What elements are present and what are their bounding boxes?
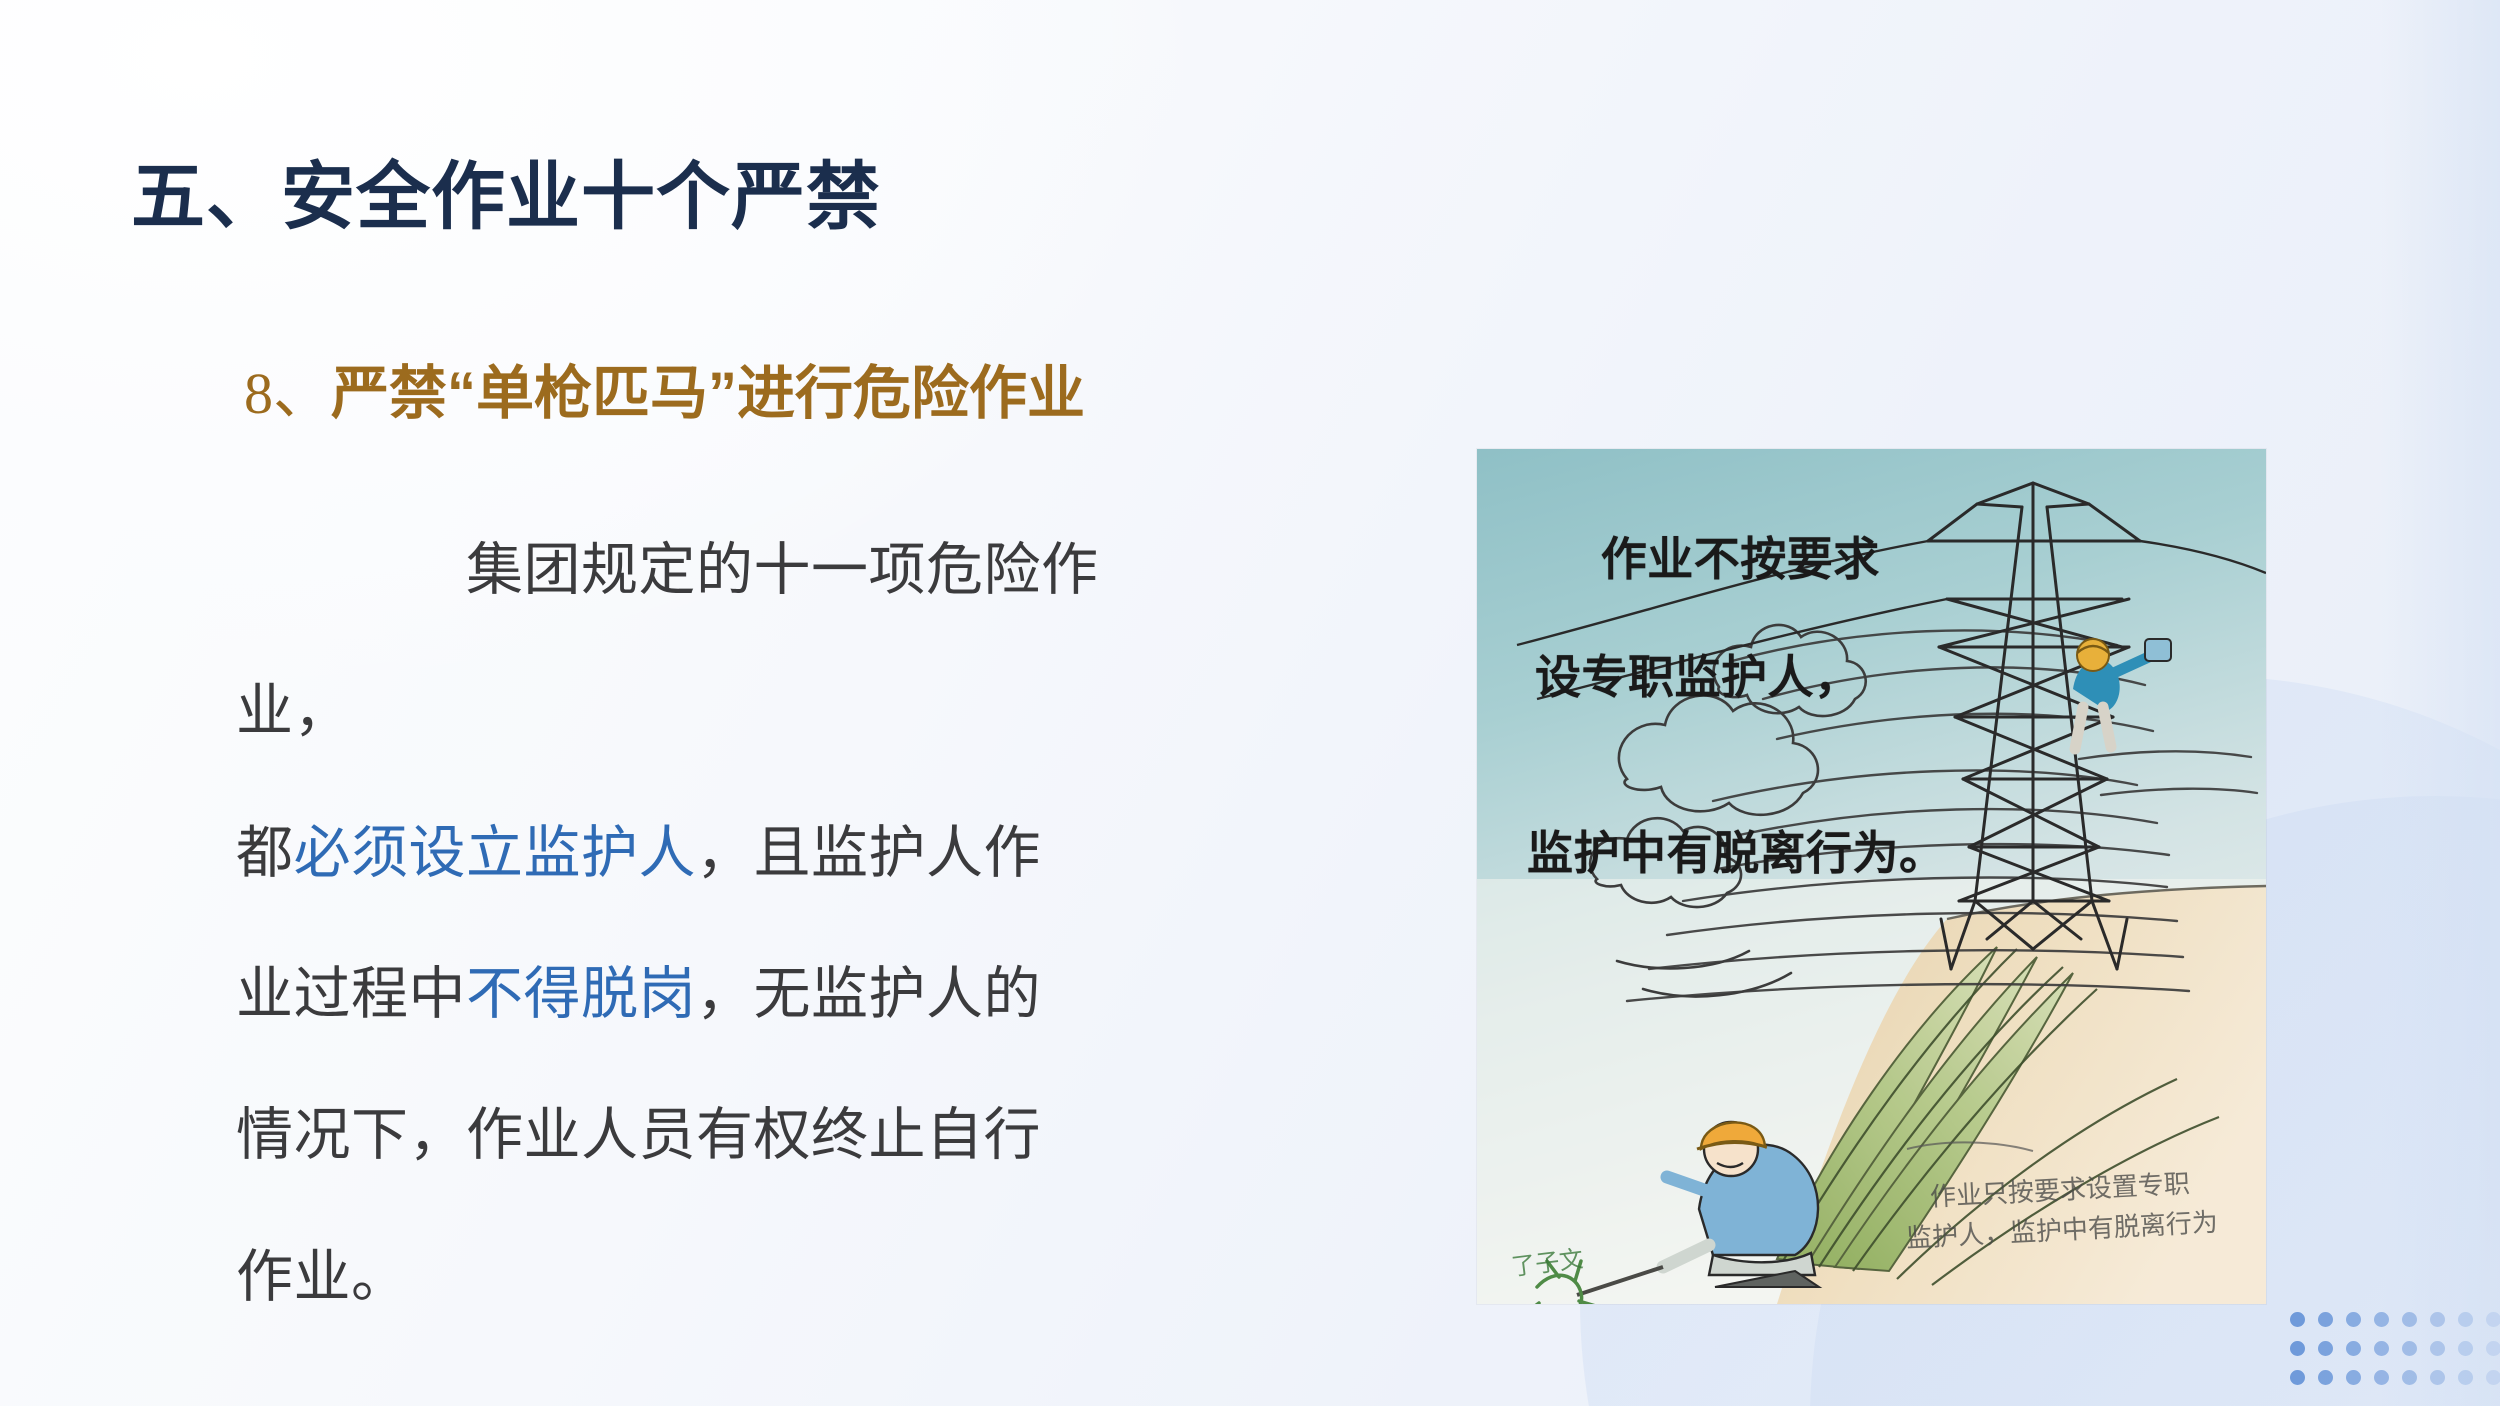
cartoon-caption: 作业不按要求 设专职监护人， 监护中有脱离行为。: [1521, 471, 1946, 1001]
sub-heading: 8、严禁“单枪匹马”进行危险作业: [244, 361, 1085, 428]
decorative-dot: [2290, 1312, 2305, 1327]
body-text-plain: ，且监护人作: [696, 821, 1041, 885]
dot-grid-decoration: [2290, 1312, 2500, 1399]
decorative-dot: [2402, 1370, 2417, 1385]
body-line: 情况下，作业人员有权终止自行: [236, 1065, 1196, 1206]
decorative-dot: [2486, 1312, 2500, 1327]
decorative-dot: [2430, 1312, 2445, 1327]
decorative-dot: [2458, 1370, 2473, 1385]
body-line: 都必须设立监护人，且监护人作: [236, 783, 1196, 924]
background-edge-gradient: [2380, 0, 2500, 1406]
decorative-dot: [2318, 1312, 2333, 1327]
slide-canvas: 五、安全作业十个严禁 8、严禁“单枪匹马”进行危险作业 集团规定的十一项危险作业…: [0, 0, 2500, 1406]
decorative-dot: [2346, 1312, 2361, 1327]
page-title: 五、安全作业十个严禁: [131, 156, 881, 237]
body-text-plain: 业过程中: [236, 962, 466, 1026]
decorative-dot: [2346, 1370, 2361, 1385]
decorative-dot: [2374, 1370, 2389, 1385]
body-text-plain: 都: [236, 821, 294, 885]
decorative-dot: [2486, 1370, 2500, 1385]
cartoon-caption-line-2: 设专职监护人，: [1521, 648, 1946, 707]
body-text-plain: 作业。: [236, 1245, 409, 1309]
decorative-dot: [2458, 1312, 2473, 1327]
decorative-dot: [2458, 1341, 2473, 1356]
sub-heading-number: 8、: [244, 361, 331, 426]
sub-heading-text: 严禁“单枪匹马”进行危险作业: [331, 361, 1085, 426]
body-paragraph: 集团规定的十一项危险作业，都必须设立监护人，且监护人作业过程中不得脱岗，无监护人…: [236, 500, 1196, 1348]
decorative-dot: [2374, 1312, 2389, 1327]
cartoon-caption-line-1: 作业不按要求: [1601, 533, 1880, 585]
body-text-plain: ，无监护人的: [696, 962, 1041, 1026]
body-text-highlight: 必须设立监护人: [294, 821, 697, 885]
decorative-dot: [2290, 1370, 2305, 1385]
decorative-dot: [2430, 1341, 2445, 1356]
decorative-dot: [2402, 1312, 2417, 1327]
body-text-plain: 集团规定的十一项危险作业，: [236, 538, 1099, 743]
cartoon-caption-line-3: 监护中有脱离行为。: [1521, 824, 1946, 883]
decorative-dot: [2318, 1370, 2333, 1385]
decorative-dot: [2402, 1341, 2417, 1356]
decorative-dot: [2346, 1341, 2361, 1356]
decorative-dot: [2318, 1341, 2333, 1356]
decorative-dot: [2430, 1370, 2445, 1385]
body-line: 业过程中不得脱岗，无监护人的: [236, 924, 1196, 1065]
body-line: 作业。: [236, 1207, 1196, 1348]
safety-cartoon-illustration: 作业不按要求 设专职监护人， 监护中有脱离行为。 作业只按要求设置专职 监护人，…: [1477, 449, 2266, 1304]
decorative-dot: [2486, 1341, 2500, 1356]
decorative-dot: [2374, 1341, 2389, 1356]
body-text-plain: 情况下，作业人员有权终止自行: [236, 1103, 1041, 1167]
body-line: 集团规定的十一项危险作业，: [236, 500, 1196, 783]
decorative-dot: [2290, 1341, 2305, 1356]
body-text-highlight: 不得脱岗: [466, 962, 696, 1026]
